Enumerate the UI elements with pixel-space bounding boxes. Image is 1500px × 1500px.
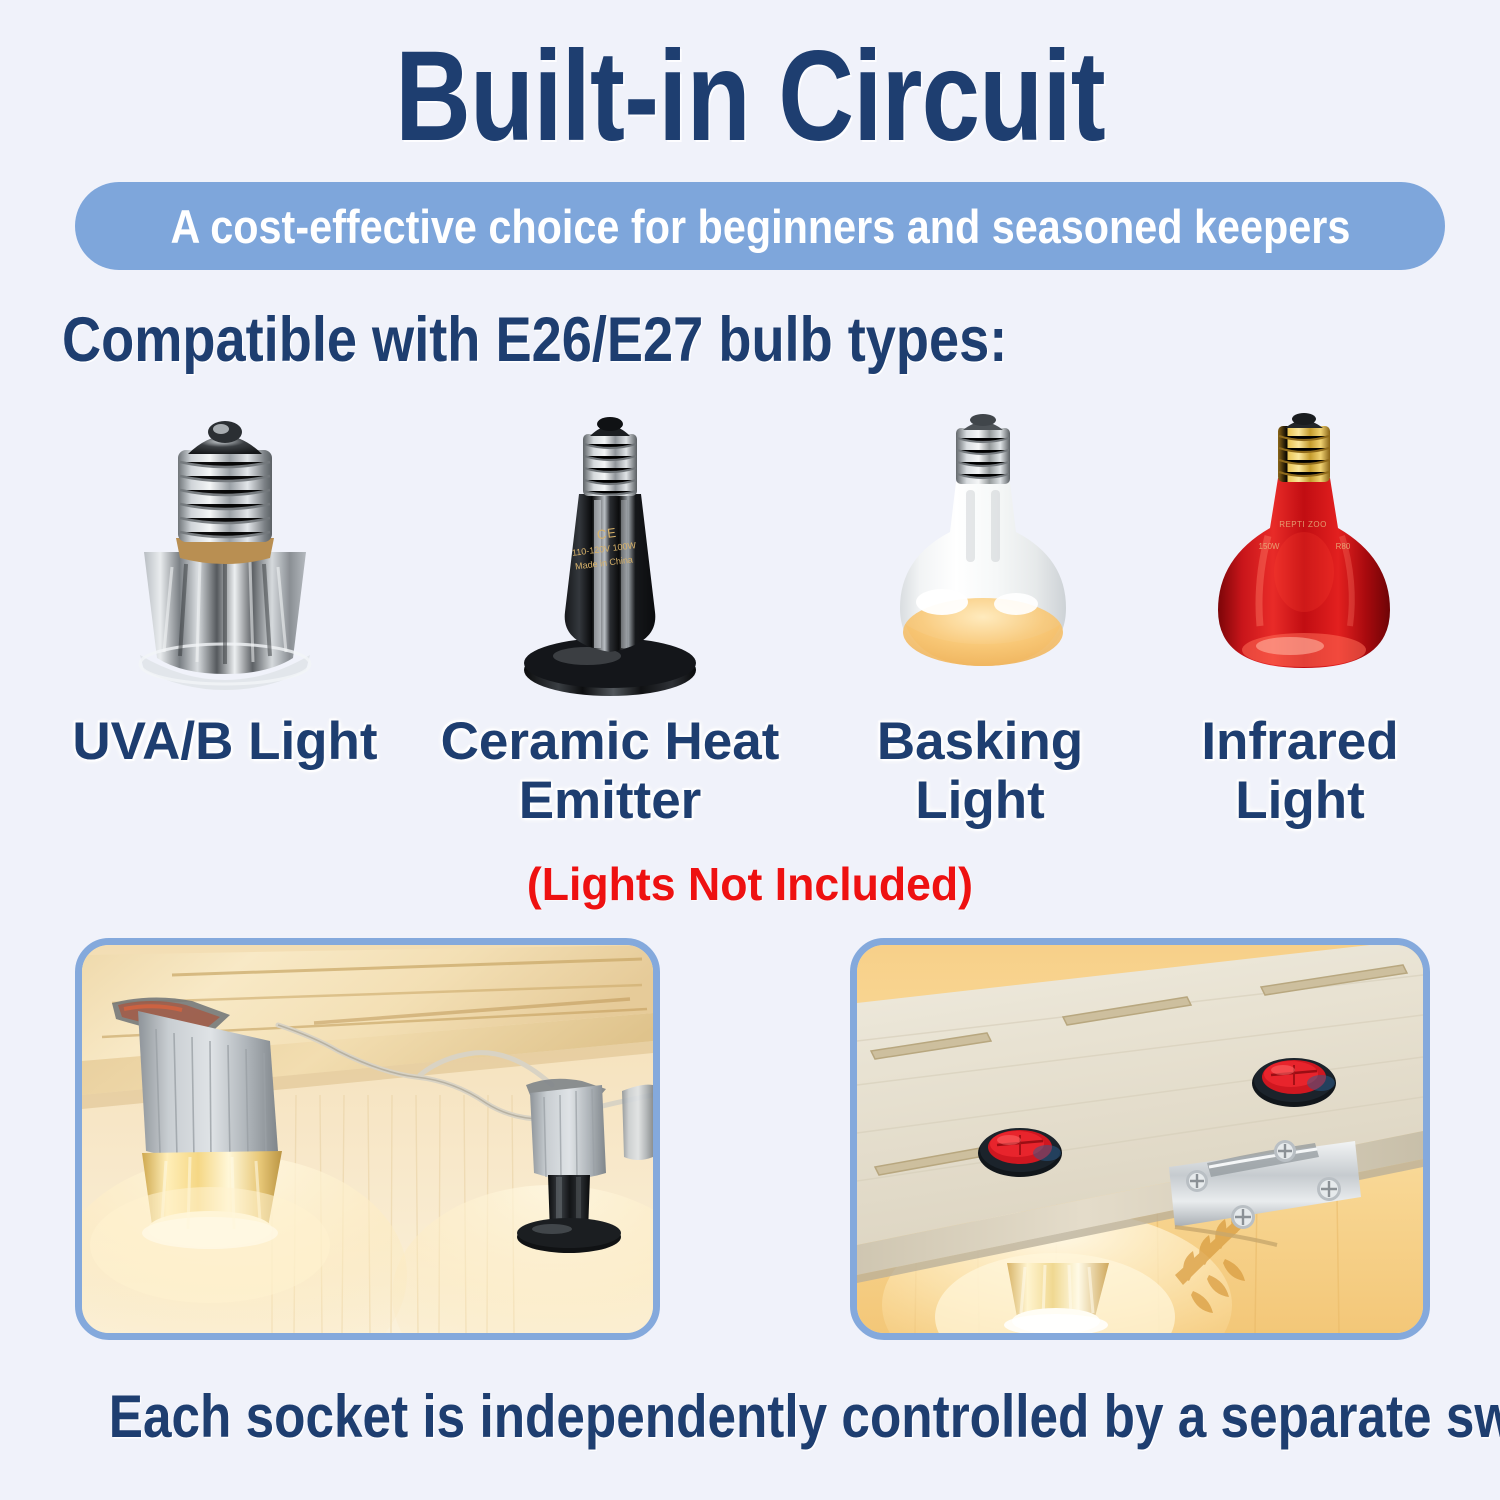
bulb-label-ceramic-line2: Emitter xyxy=(425,771,795,830)
not-included-note: (Lights Not Included) xyxy=(527,857,973,911)
bulb-card-uvab xyxy=(100,412,350,702)
bulb-label-basking: Basking Light xyxy=(845,712,1115,831)
bulb-label-uvab-line1: UVA/B Light xyxy=(45,712,405,771)
basking-bulb-icon xyxy=(870,412,1095,702)
not-included-row: (Lights Not Included) xyxy=(0,857,1500,911)
infrared-print-model: R80 xyxy=(1298,542,1388,552)
infrared-bulb-icon xyxy=(1190,412,1415,702)
bulb-label-infrared-line2: Light xyxy=(1165,771,1435,830)
bulb-label-basking-line2: Light xyxy=(845,771,1115,830)
lid-switches-illustration xyxy=(857,945,1423,1333)
subtitle-text: A cost-effective choice for beginners an… xyxy=(170,199,1350,254)
bulb-label-infrared-line1: Infrared xyxy=(1165,712,1435,771)
bulb-label-ceramic: Ceramic Heat Emitter xyxy=(425,712,795,831)
bulb-label-uvab: UVA/B Light xyxy=(45,712,405,771)
infographic-canvas: Built-in Circuit A cost-effective choice… xyxy=(0,0,1500,1500)
footer-caption: Each socket is independently controlled … xyxy=(109,1382,1392,1451)
bulb-card-infrared: REPTI ZOO 150W R80 xyxy=(1190,412,1415,702)
lid-switches-photo xyxy=(850,938,1430,1340)
rocker-switch-right xyxy=(1252,1058,1336,1107)
infrared-print-brand: REPTI ZOO xyxy=(1238,520,1368,530)
interior-sockets-photo xyxy=(75,938,660,1340)
rocker-switch-left xyxy=(978,1128,1062,1177)
bulb-label-basking-line1: Basking xyxy=(845,712,1115,771)
bulb-label-ceramic-line1: Ceramic Heat xyxy=(425,712,795,771)
bulb-card-ceramic: CE 110-120V 100W Made in China xyxy=(495,412,725,702)
bulb-card-basking xyxy=(870,412,1095,702)
bulb-label-infrared: Infrared Light xyxy=(1165,712,1435,831)
page-title: Built-in Circuit xyxy=(135,30,1365,164)
uvab-spot-bulb-icon xyxy=(100,412,350,702)
subtitle-banner: A cost-effective choice for beginners an… xyxy=(75,182,1445,270)
interior-sockets-illustration xyxy=(82,945,653,1333)
compatibility-heading: Compatible with E26/E27 bulb types: xyxy=(62,304,1007,376)
